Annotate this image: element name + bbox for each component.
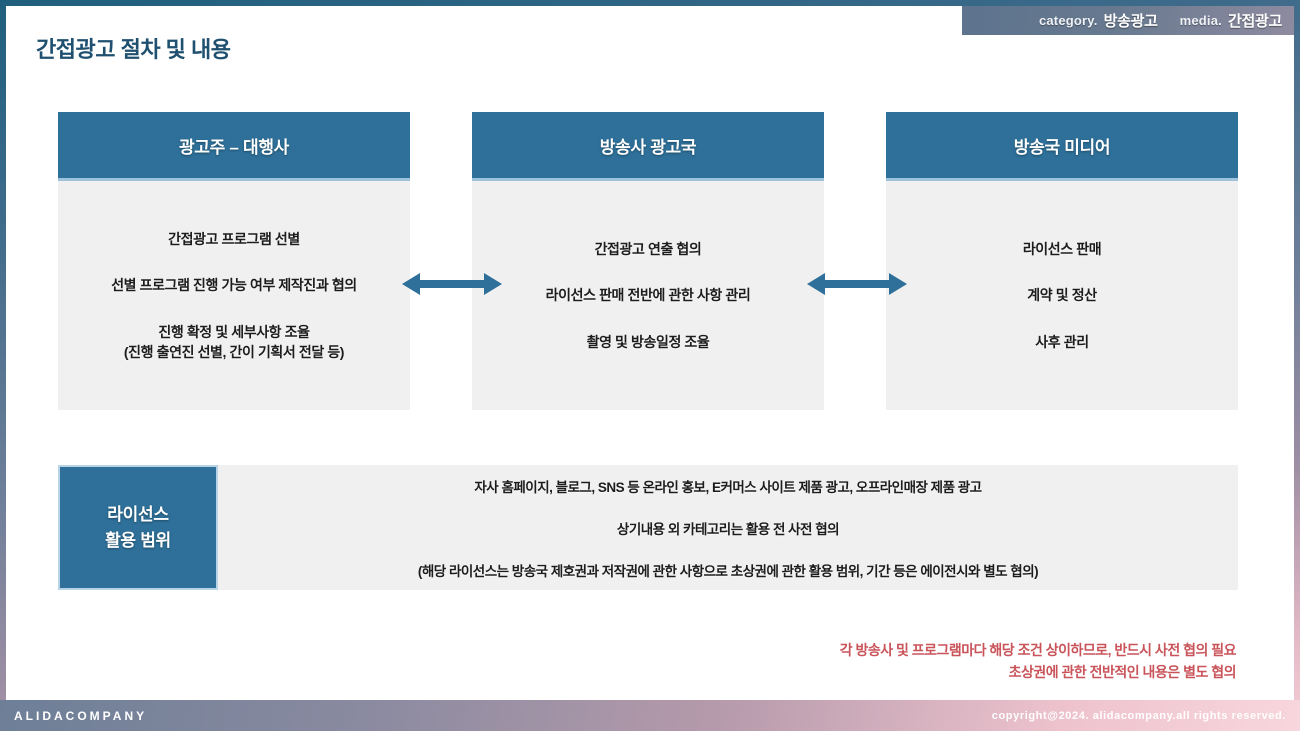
process-column-advertiser: 광고주 – 대행사 간접광고 프로그램 선별 선별 프로그램 진행 가능 여부 … <box>58 112 410 410</box>
brand-logo: ALIDACOMPANY <box>14 709 147 723</box>
category-value: 방송광고 <box>1104 10 1158 31</box>
column-line: 진행 확정 및 세부사항 조율 (진행 출연진 선별, 간이 기획서 전달 등) <box>124 322 344 363</box>
column-line: 라이선스 판매 전반에 관한 사항 관리 <box>546 285 751 305</box>
column-line: 라이선스 판매 <box>1023 239 1101 259</box>
license-line: 상기내용 외 카테고리는 활용 전 사전 협의 <box>617 518 839 538</box>
footnotes: 각 방송사 및 프로그램마다 해당 조건 상이하므로, 반드시 사전 협의 필요… <box>840 640 1236 683</box>
page-title: 간접광고 절차 및 내용 <box>36 32 231 64</box>
column-body-broadcast-media: 라이선스 판매 계약 및 정산 사후 관리 <box>886 178 1238 410</box>
footnote: 초상권에 관한 전반적인 내용은 별도 협의 <box>840 662 1236 684</box>
column-line: 촬영 및 방송일정 조율 <box>587 332 710 352</box>
column-line: 선별 프로그램 진행 가능 여부 제작진과 협의 <box>111 275 357 295</box>
column-body-advertiser: 간접광고 프로그램 선별 선별 프로그램 진행 가능 여부 제작진과 협의 진행… <box>58 178 410 410</box>
column-line: 간접광고 프로그램 선별 <box>168 229 300 249</box>
category-bar: category. 방송광고 media. 간접광고 <box>962 6 1294 35</box>
process-column-broadcast-media: 방송국 미디어 라이선스 판매 계약 및 정산 사후 관리 <box>886 112 1238 410</box>
double-arrow-icon <box>402 264 502 304</box>
column-header-broadcaster-ad-dept: 방송사 광고국 <box>472 112 824 178</box>
footer-bar: ALIDACOMPANY copyright@2024. alidacompan… <box>0 700 1300 731</box>
column-line: 계약 및 정산 <box>1027 285 1096 305</box>
slide-frame: category. 방송광고 media. 간접광고 간접광고 절차 및 내용 … <box>0 0 1300 731</box>
process-columns: 광고주 – 대행사 간접광고 프로그램 선별 선별 프로그램 진행 가능 여부 … <box>58 112 1238 412</box>
license-line: (해당 라이선스는 방송국 제호권과 저작권에 관한 사항으로 초상권에 관한 … <box>418 560 1038 580</box>
license-scope-body: 자사 홈페이지, 블로그, SNS 등 온라인 홍보, E커머스 사이트 제품 … <box>218 465 1238 590</box>
process-column-broadcaster-ad-dept: 방송사 광고국 간접광고 연출 협의 라이선스 판매 전반에 관한 사항 관리 … <box>472 112 824 410</box>
copyright-text: copyright@2024. alidacompany.all rights … <box>992 710 1286 722</box>
footnote: 각 방송사 및 프로그램마다 해당 조건 상이하므로, 반드시 사전 협의 필요 <box>840 640 1236 662</box>
media-label: media. <box>1180 13 1222 28</box>
column-line: 사후 관리 <box>1035 332 1088 352</box>
license-scope-band: 라이선스 활용 범위 자사 홈페이지, 블로그, SNS 등 온라인 홍보, E… <box>58 465 1238 590</box>
column-header-broadcast-media: 방송국 미디어 <box>886 112 1238 178</box>
column-line: 간접광고 연출 협의 <box>595 239 702 259</box>
license-line: 자사 홈페이지, 블로그, SNS 등 온라인 홍보, E커머스 사이트 제품 … <box>474 476 981 496</box>
category-label: category. <box>1039 13 1098 28</box>
media-value: 간접광고 <box>1228 10 1282 31</box>
license-scope-label: 라이선스 활용 범위 <box>58 465 218 590</box>
column-body-broadcaster-ad-dept: 간접광고 연출 협의 라이선스 판매 전반에 관한 사항 관리 촬영 및 방송일… <box>472 178 824 410</box>
slide-canvas: category. 방송광고 media. 간접광고 간접광고 절차 및 내용 … <box>6 6 1294 700</box>
column-header-advertiser: 광고주 – 대행사 <box>58 112 410 178</box>
double-arrow-icon <box>807 264 907 304</box>
